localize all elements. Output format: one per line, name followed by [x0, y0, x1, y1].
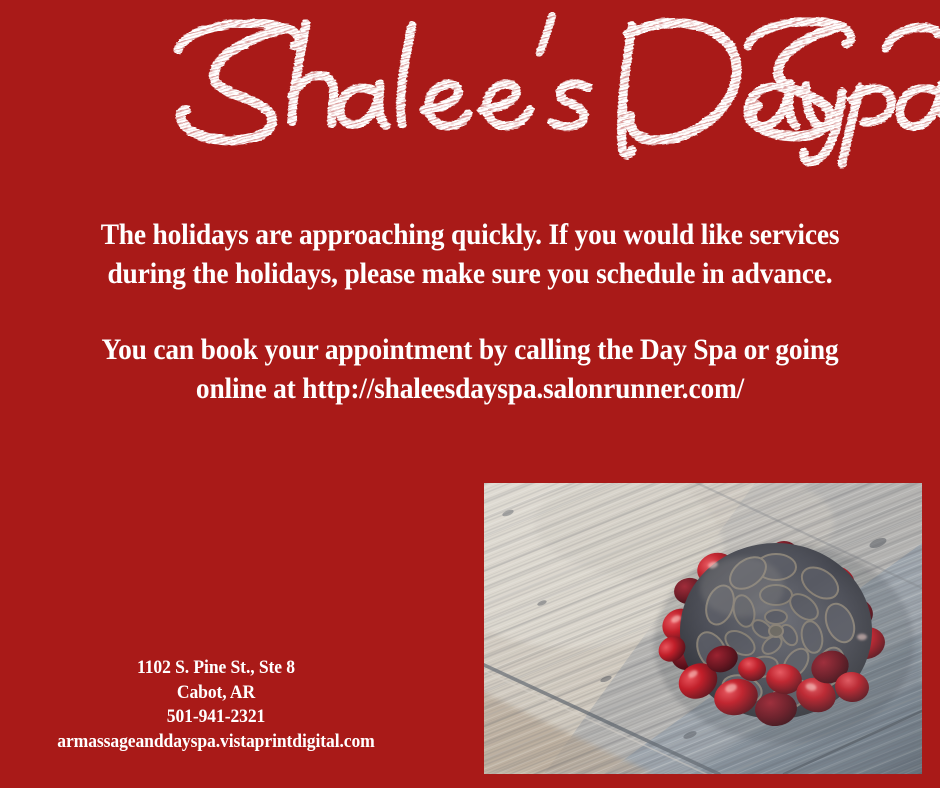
flyer-title: Shalee's Day Spa — [0, 0, 940, 170]
body-paragraph-1: The holidays are approaching quickly. If… — [89, 216, 852, 294]
pinecone-cranberries-photo: Pine cone surrounded by red cranberries … — [484, 483, 922, 774]
footer-address-line-1: 1102 S. Pine St., Ste 8 — [26, 656, 406, 681]
title-brush-script: Shalee's Day Spa — [0, 0, 940, 170]
footer-contact-block: 1102 S. Pine St., Ste 8 Cabot, AR 501-94… — [26, 656, 406, 754]
footer-phone: 501-941-2321 — [26, 705, 406, 730]
holiday-photo: Pine cone surrounded by red cranberries … — [484, 483, 922, 774]
footer-website: armassageanddayspa.vistaprintdigital.com — [26, 730, 406, 755]
footer-address-line-2: Cabot, AR — [26, 681, 406, 706]
spa-holiday-flyer: Shalee's Day Spa — [0, 0, 940, 788]
body-paragraph-2: You can book your appointment by calling… — [89, 331, 852, 409]
